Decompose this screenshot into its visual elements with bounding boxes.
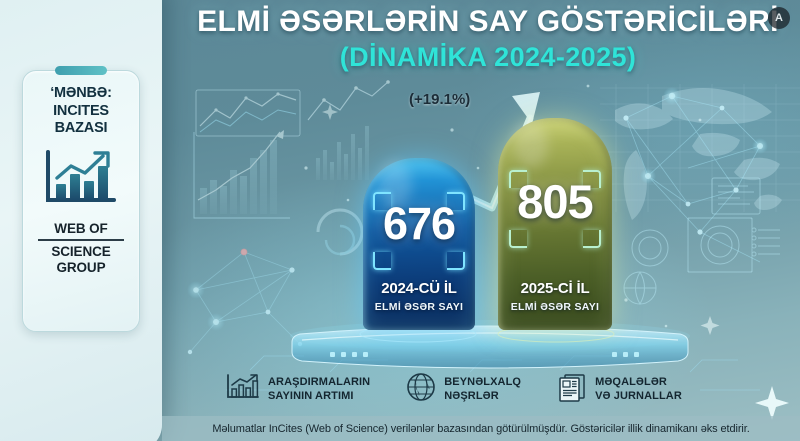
bar-year-label-2024: 2024-CÜ İL (363, 280, 475, 297)
watermark-badge: A (768, 7, 790, 29)
bar-sub-label-2025: ELMİ ƏSƏR SAYI (498, 301, 612, 313)
bar-chart-growth-icon (43, 149, 119, 214)
background-charts-left (194, 80, 390, 254)
feature-label: MƏQALƏLƏR VƏ JURNALLAR (595, 376, 682, 404)
bar-sub-label-2024: ELMİ ƏSƏR SAYI (363, 301, 475, 313)
globe-icon (406, 372, 436, 407)
bar-gloss (514, 122, 548, 168)
footer-text: Məlumatlar InCites (Web of Science) veri… (212, 423, 749, 435)
network-nodes-right (623, 87, 768, 262)
feature-item-research-growth: ARAŞDIRMALARIN SAYININ ARTIMI (226, 372, 370, 407)
card-notch (55, 66, 107, 75)
brand-web-of: WEB OF (54, 221, 107, 237)
bar-chart-growth-icon (226, 373, 260, 406)
brand-science-group: SCIENCE GROUP (29, 244, 133, 276)
world-map-graphic (615, 88, 782, 220)
feature-label: BEYNƏLXALQ NƏŞRLƏR (444, 376, 521, 404)
tech-pedestal (290, 320, 690, 368)
feature-item-international: BEYNƏLXALQ NƏŞRLƏR (406, 372, 521, 407)
hud-panels-right (624, 178, 780, 304)
bar-2025: 805 2025-Cİ İL ELMİ ƏSƏR SAYI (498, 118, 612, 330)
feature-list: ARAŞDIRMALARIN SAYININ ARTIMI BEYNƏLXALQ… (226, 372, 786, 407)
page-subtitle: (DİNAMİKA 2024-2025) (176, 42, 800, 73)
bar-year-label-2025: 2025-Cİ İL (498, 280, 612, 297)
source-card: ‘MƏNBƏ: INCITES BAZASI (22, 70, 140, 332)
bar-2024: 676 2024-CÜ İL ELMİ ƏSƏR SAYI (363, 158, 475, 330)
watermark-glyph: A (775, 12, 783, 24)
source-sidebar-panel: ‘MƏNBƏ: INCITES BAZASI (0, 0, 162, 441)
feature-label: ARAŞDIRMALARIN SAYININ ARTIMI (268, 376, 370, 404)
growth-percentage-label: (+19.1%) (409, 91, 470, 108)
network-nodes-left (187, 249, 302, 355)
infographic-canvas: ‘MƏNBƏ: INCITES BAZASI (0, 0, 800, 441)
header-block: ELMİ ƏSƏRLƏRİN SAY GÖSTƏRİCİLƏRİ (DİNAMİ… (176, 6, 800, 73)
page-title: ELMİ ƏSƏRLƏRİN SAY GÖSTƏRİCİLƏRİ (176, 6, 800, 38)
brand-divider (38, 239, 124, 241)
documents-icon (557, 372, 587, 407)
feature-item-articles-journals: MƏQALƏLƏR VƏ JURNALLAR (557, 372, 682, 407)
bar-value-2025: 805 (498, 174, 612, 229)
bar-value-2024: 676 (363, 198, 475, 250)
footer-note: Məlumatlar InCites (Web of Science) veri… (162, 416, 800, 441)
source-heading: ‘MƏNBƏ: INCITES BAZASI (29, 85, 133, 138)
